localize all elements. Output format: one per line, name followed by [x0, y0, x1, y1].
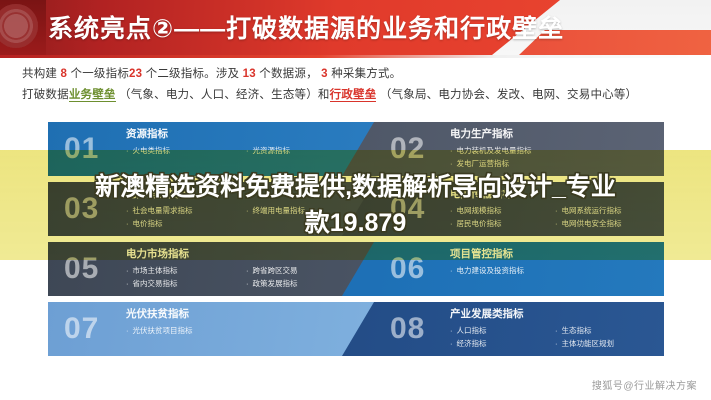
card-item: 电网供电安全指标: [555, 217, 660, 230]
card-number: 08: [390, 309, 425, 349]
intro-line-1: 共构建 8 个一级指标23 个二级指标。涉及 13 个数据源， 3 种采集方式。: [22, 64, 692, 85]
card-item: 社会电量需求指标: [126, 204, 246, 217]
intro-l2-seg3: （气象局、电力协会、发改、电网、交易中心等）: [380, 89, 637, 101]
card-item: 生态指标: [555, 324, 660, 337]
card-title: 电力市场指标: [126, 247, 366, 262]
intro-l2-seg1: 打破数据: [22, 89, 69, 101]
card-title: 资源指标: [126, 127, 366, 142]
card-body: 电力市场指标 市场主体指标 跨省跨区交易 省内交易指标 政策发展指标: [126, 247, 366, 290]
card-item: 发电厂运营指标: [450, 157, 660, 170]
card-item: 电价指标: [126, 217, 246, 230]
intro-l1-seg4: 个数据源，: [259, 68, 318, 80]
source-watermark: 搜狐号@行业解决方案: [592, 377, 697, 392]
card-item: 经济指标: [450, 337, 555, 350]
card-number: 01: [64, 129, 99, 169]
card-item: 主体功能区规划: [555, 337, 660, 350]
indicator-card-05[interactable]: 05 电力市场指标 市场主体指标 跨省跨区交易 省内交易指标 政策发展指标: [48, 242, 380, 296]
card-row-4: 07 光伏扶贫指标 光伏扶贫项目指标 08 产业发展类指标 人口指标 生态指标 …: [48, 302, 664, 356]
card-item: 电网系统运行指标: [555, 204, 660, 217]
card-item: 跨省跨区交易: [246, 264, 366, 277]
intro-l1-seg5: 种采集方式。: [331, 68, 401, 80]
card-item-list: 火电类指标 光资源指标: [126, 144, 366, 157]
indicator-card-08[interactable]: 08 产业发展类指标 人口指标 生态指标 经济指标 主体功能区规划: [338, 302, 664, 356]
card-body: 电力消费指标 社会电量需求指标 终端用电量指标 电价指标: [126, 187, 366, 230]
card-title: 电力传输指标: [450, 187, 660, 202]
page-title: 系统亮点②——打破数据源的业务和行政壁垒: [48, 9, 564, 45]
intro-l1-seg2: 个一级指标: [71, 68, 130, 80]
card-row-1: 01 资源指标 火电类指标 光资源指标 02 电力生产指标 电力装机及发电量指标…: [48, 122, 664, 176]
card-title: 产业发展类指标: [450, 307, 660, 322]
header-divider: [0, 55, 711, 58]
intro-l1-seg1: 共构建: [22, 68, 57, 80]
card-item: 光资源指标: [246, 144, 366, 157]
slide-header: 系统亮点②——打破数据源的业务和行政壁垒: [0, 0, 711, 55]
card-body: 项目管控指标 电力建设及投资指标: [450, 247, 660, 277]
card-title: 项目管控指标: [450, 247, 660, 262]
card-number: 07: [64, 309, 99, 349]
card-body: 产业发展类指标 人口指标 生态指标 经济指标 主体功能区规划: [450, 307, 660, 350]
intro-l1-number-3: 13: [243, 68, 256, 80]
indicator-card-06[interactable]: 06 项目管控指标 电力建设及投资指标: [338, 242, 664, 296]
indicator-card-03[interactable]: 03 电力消费指标 社会电量需求指标 终端用电量指标 电价指标: [48, 182, 380, 236]
card-item: 电力建设及投资指标: [450, 264, 660, 277]
card-item-list: 光伏扶贫项目指标: [126, 324, 366, 337]
card-number: 04: [390, 189, 425, 229]
intro-l1-seg3: 个二级指标。涉及: [146, 68, 240, 80]
card-body: 电力生产指标 电力装机及发电量指标 发电厂运营指标: [450, 127, 660, 170]
card-row-3: 05 电力市场指标 市场主体指标 跨省跨区交易 省内交易指标 政策发展指标 06…: [48, 242, 664, 296]
card-item: 火电类指标: [126, 144, 246, 157]
card-number: 05: [64, 249, 99, 289]
intro-l1-number-2: 23: [129, 68, 142, 80]
intro-l2-seg2: （气象、电力、人口、经济、生态等）和: [119, 89, 330, 101]
intro-line-2: 打破数据业务壁垒 （气象、电力、人口、经济、生态等）和行政壁垒 （气象局、电力协…: [22, 85, 692, 106]
card-number: 03: [64, 189, 99, 229]
intro-l2-highlight-business-barrier: 业务壁垒: [69, 89, 116, 102]
card-item: 人口指标: [450, 324, 555, 337]
card-item: 省内交易指标: [126, 277, 246, 290]
card-item: 电网规模指标: [450, 204, 555, 217]
card-item: 市场主体指标: [126, 264, 246, 277]
card-item: 终端用电量指标: [246, 204, 366, 217]
card-body: 资源指标 火电类指标 光资源指标: [126, 127, 366, 157]
slide-canvas: 系统亮点②——打破数据源的业务和行政壁垒 共构建 8 个一级指标23 个二级指标…: [0, 0, 711, 400]
indicator-card-04[interactable]: 04 电力传输指标 电网规模指标 电网系统运行指标 居民电价指标 电网供电安全指…: [338, 182, 664, 236]
indicator-card-grid: 01 资源指标 火电类指标 光资源指标 02 电力生产指标 电力装机及发电量指标…: [48, 122, 664, 374]
card-item-list: 电力建设及投资指标: [450, 264, 660, 277]
card-title: 电力消费指标: [126, 187, 366, 202]
card-item: 居民电价指标: [450, 217, 555, 230]
intro-l1-number-1: 8: [61, 68, 68, 80]
card-item-list: 市场主体指标 跨省跨区交易 省内交易指标 政策发展指标: [126, 264, 366, 290]
card-number: 02: [390, 129, 425, 169]
card-title: 电力生产指标: [450, 127, 660, 142]
card-item-list: 人口指标 生态指标 经济指标 主体功能区规划: [450, 324, 660, 350]
indicator-card-07[interactable]: 07 光伏扶贫指标 光伏扶贫项目指标: [48, 302, 380, 356]
intro-l2-highlight-admin-barrier: 行政壁垒: [330, 89, 377, 102]
card-number: 06: [390, 249, 425, 289]
card-item: 光伏扶贫项目指标: [126, 324, 366, 337]
indicator-card-02[interactable]: 02 电力生产指标 电力装机及发电量指标 发电厂运营指标: [338, 122, 664, 176]
indicator-card-01[interactable]: 01 资源指标 火电类指标 光资源指标: [48, 122, 380, 176]
card-row-2: 03 电力消费指标 社会电量需求指标 终端用电量指标 电价指标 04 电力传输指…: [48, 182, 664, 236]
card-body: 电力传输指标 电网规模指标 电网系统运行指标 居民电价指标 电网供电安全指标: [450, 187, 660, 230]
intro-paragraph: 共构建 8 个一级指标23 个二级指标。涉及 13 个数据源， 3 种采集方式。…: [22, 64, 692, 106]
card-item-list: 电网规模指标 电网系统运行指标 居民电价指标 电网供电安全指标: [450, 204, 660, 230]
card-item-list: 电力装机及发电量指标 发电厂运营指标: [450, 144, 660, 170]
intro-l1-number-4: 3: [321, 68, 328, 80]
card-title: 光伏扶贫指标: [126, 307, 366, 322]
card-item: 电力装机及发电量指标: [450, 144, 660, 157]
card-body: 光伏扶贫指标 光伏扶贫项目指标: [126, 307, 366, 337]
card-item-list: 社会电量需求指标 终端用电量指标 电价指标: [126, 204, 366, 230]
